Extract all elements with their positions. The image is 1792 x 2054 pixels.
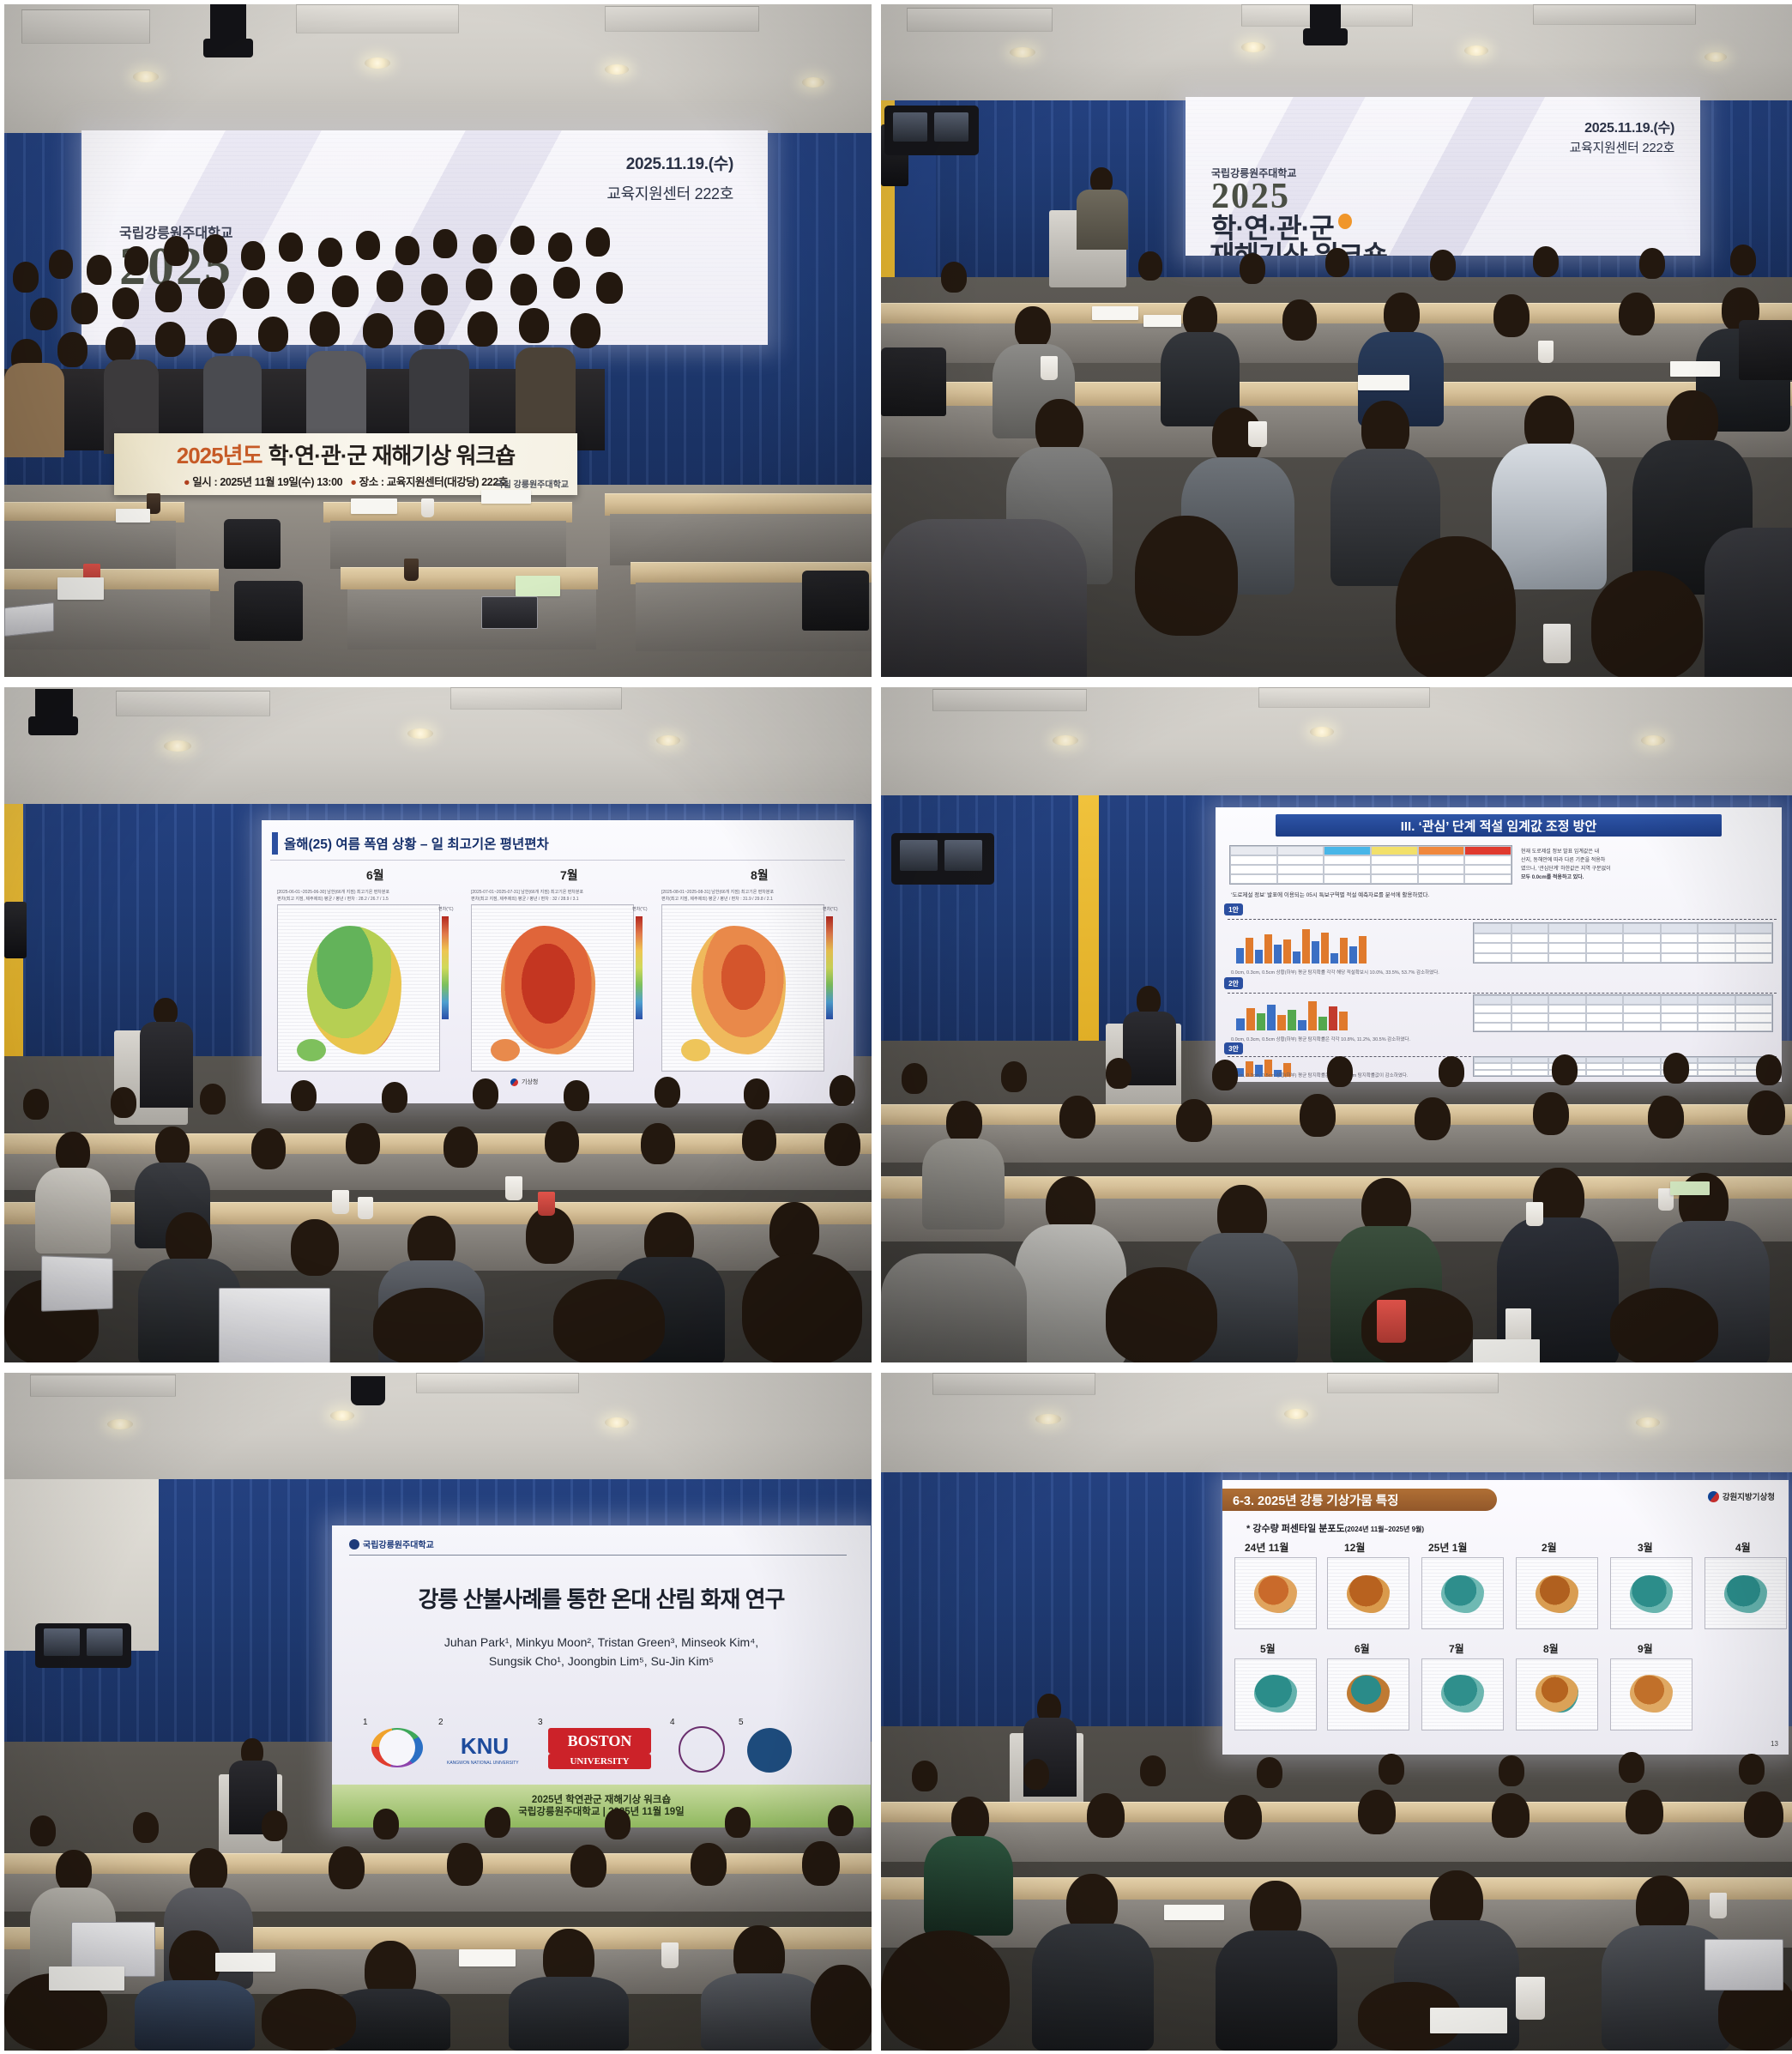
affiliation-number: 3	[538, 1718, 543, 1727]
affiliation-logo-nifos	[747, 1728, 792, 1773]
slide-room: 교육지원센터 222호	[606, 182, 733, 204]
camera-icon	[351, 1376, 385, 1405]
projection-screen: 올해(25) 여름 폭염 상황 – 일 최고기온 평년편차 6월 7월 8월 […	[262, 820, 854, 1103]
affiliation-number: 4	[670, 1718, 675, 1727]
kma-logo-icon: 기상청	[510, 1078, 538, 1086]
drought-map-2502	[1516, 1557, 1598, 1629]
kma-label: 기상청	[522, 1078, 538, 1086]
kma-logo-icon: 강원지방기상청	[1708, 1490, 1775, 1502]
cup-icon	[505, 1176, 522, 1200]
photo-drought[interactable]: 6-3. 2025년 강릉 기상가뭄 특징 강원지방기상청 * 강수량 퍼센타일…	[881, 1373, 1792, 2051]
affiliation-number: 1	[363, 1718, 368, 1727]
photo-wildfire[interactable]: 국립강릉원주대학교 강릉 산불사례를 통한 온대 산림 화재 연구 Juhan …	[4, 1373, 872, 2051]
authors-line-1: Juhan Park¹, Minkyu Moon², Tristan Green…	[332, 1635, 871, 1649]
ceiling-light-icon	[656, 735, 680, 746]
month-label: 9월	[1638, 1641, 1653, 1656]
panel-month-label: 7월	[560, 867, 578, 884]
laptop	[1705, 1939, 1783, 1991]
subnote: 0.0cm, 0.3cm, 0.5cm 상황(하부) 평균 탐지확률 각각 해당…	[1231, 969, 1439, 976]
affiliation-logo-boston-sub: UNIVERSITY	[548, 1754, 651, 1769]
photo-opening-wide[interactable]: 2025.11.19.(수) 교육지원센터 222호 국립강릉원주대학교 202…	[881, 4, 1792, 677]
photo-collage: 2025.11.19.(수) 교육지원센터 222호 국립강릉원주대학교 202…	[0, 0, 1792, 2054]
section-label: 1안	[1224, 903, 1243, 915]
cup-icon	[404, 559, 419, 581]
banner-title-rest: 학·연·관·군 재해기상 워크숍	[268, 443, 516, 468]
ceiling-light-icon	[1053, 735, 1078, 746]
banner-title-year: 2025년도	[177, 443, 262, 468]
affiliation-logo-ncar	[371, 1728, 423, 1767]
photo-group-banner[interactable]: 2025.11.19.(수) 교육지원센터 222호 국립강릉원주대학교 202…	[4, 4, 872, 677]
affiliation-number: 2	[438, 1718, 443, 1727]
panel-caption: 편차(최고 지점, 제주제외) 평균 / 평년 / 편차 : 31.9 / 29…	[661, 896, 773, 902]
drought-map-2506	[1327, 1658, 1409, 1731]
affiliation-subtext: KANGWON NATIONAL UNIVERSITY	[447, 1761, 519, 1766]
slide-institution: 국립강릉원주대학교	[349, 1537, 434, 1550]
ceiling-light-icon	[164, 740, 191, 752]
cup-icon	[358, 1197, 373, 1219]
ceiling-light-icon	[1241, 42, 1265, 52]
drought-map-2503	[1610, 1557, 1692, 1629]
bar-chart-option2	[1236, 996, 1348, 1030]
projection-screen: 6-3. 2025년 강릉 기상가뭄 특징 강원지방기상청 * 강수량 퍼센타일…	[1222, 1480, 1789, 1755]
slide-date: 2025.11.19.(수)	[1584, 116, 1674, 136]
cup-icon	[1248, 421, 1267, 447]
panel-caption: [2025-06-01~2025-06-30] 남한(66개 지점) 최고기온 …	[277, 889, 389, 895]
heatmap-panel-august	[661, 904, 824, 1072]
slide-title: 6-3. 2025년 강릉 기상가뭄 특징	[1222, 1489, 1497, 1511]
cup-icon	[332, 1190, 349, 1214]
photo-snow-threshold[interactable]: III. ‘관심’ 단계 적설 임계값 조정 방안 현재 도로제설 정보 발표 …	[881, 687, 1792, 1362]
panel-caption: 편차(최고 지점, 제주제외) 평균 / 평년 / 편차 : 28.2 / 26…	[277, 896, 389, 902]
cup-icon	[1538, 341, 1554, 363]
cup-icon	[538, 1192, 555, 1216]
cup-icon	[1543, 624, 1571, 663]
institution-label: 국립강릉원주대학교	[363, 1537, 434, 1550]
ceiling-light-icon	[1705, 52, 1727, 62]
ceiling-light-icon	[1310, 727, 1334, 737]
event-banner: 2025년도 학·연·관·군 재해기상 워크숍 ● 일시 : 2025년 11월…	[114, 433, 577, 495]
cup-icon	[1710, 1893, 1727, 1918]
cup-icon	[1526, 1202, 1543, 1226]
banner-logo-text: 국립 강릉원주대학교	[495, 477, 569, 490]
note-bottom: ‘도로제설 정보’ 발표에 이용되는 05시 특보구역별 적설 예측자료를 분석…	[1231, 890, 1429, 898]
authors-line-2: Sungsik Cho¹, Joongbin Lim⁵, Su-Jin Kim⁵	[332, 1654, 871, 1668]
banner-date-label: 일시 :	[192, 476, 217, 488]
banner-place-value: 교육지원센터(대강당) 222호	[387, 476, 508, 488]
panel-month-label: 8월	[751, 867, 769, 884]
month-label: 7월	[1449, 1641, 1464, 1656]
month-label: 4월	[1735, 1540, 1751, 1555]
slide-room: 교육지원센터 222호	[1570, 138, 1675, 156]
page-number: 13	[1771, 1740, 1778, 1748]
panel-caption: 편차(최고 지점, 제주제외) 평균 / 평년 / 편차 : 32 / 28.9…	[471, 896, 579, 902]
banner-date-value: 2025년 11월 19일(수) 13:00	[220, 476, 342, 488]
month-label: 2월	[1542, 1540, 1557, 1555]
drought-map-2507	[1421, 1658, 1504, 1731]
banner-title: 2025년도 학·연·관·군 재해기상 워크숍	[114, 438, 577, 470]
heatmap-panel-june	[277, 904, 440, 1072]
month-label: 6월	[1355, 1641, 1370, 1656]
note-line: 였으나, ‘관심단계’ 하한값은 지역 구분없이	[1521, 864, 1611, 872]
month-label: 5월	[1260, 1641, 1276, 1656]
photo-heatwave[interactable]: 올해(25) 여름 폭염 상황 – 일 최고기온 평년편차 6월 7월 8월 […	[4, 687, 872, 1362]
slide-title-line2: 재해기상 워크숍	[1210, 234, 1387, 256]
month-label: 8월	[1543, 1641, 1559, 1656]
ceiling-light-icon	[107, 1419, 133, 1429]
subnote: 0.0cm, 0.3cm, 0.5cm 상황(하부) 평균 탐지확률은 각각 1…	[1231, 1072, 1408, 1078]
affiliation-number: 5	[739, 1718, 744, 1727]
projection-screen: 2025.11.19.(수) 교육지원센터 222호 국립강릉원주대학교 202…	[1186, 97, 1700, 256]
subtitle-main: * 강수량 퍼센타일 분포도	[1246, 1524, 1345, 1534]
subtitle-paren: (2024년 11월~2025년 9월)	[1345, 1525, 1424, 1533]
panel-month-label: 6월	[366, 867, 384, 884]
projection-screen: 국립강릉원주대학교 강릉 산불사례를 통한 온대 산림 화재 연구 Juhan …	[332, 1525, 871, 1827]
camera-icon	[203, 39, 253, 57]
section-label: 3안	[1224, 1042, 1243, 1054]
legend-title: 편차(℃)	[632, 906, 648, 912]
drought-map-2509	[1610, 1658, 1692, 1731]
laptop	[219, 1288, 330, 1362]
ceiling-light-icon	[1636, 1417, 1660, 1428]
affiliation-logo-knu: KNU	[447, 1731, 522, 1761]
month-label: 3월	[1638, 1540, 1653, 1555]
slide-title: 올해(25) 여름 폭염 상황 – 일 최고기온 평년편차	[284, 834, 549, 853]
cup-icon	[1516, 1977, 1545, 2020]
affiliation-logo-gwnu	[679, 1726, 725, 1773]
ceiling-light-icon	[407, 728, 433, 739]
affiliation-logo-boston: BOSTON	[548, 1728, 651, 1754]
drought-map-2412	[1327, 1557, 1409, 1629]
slide-title: 강릉 산불사례를 통한 온대 산림 화재 연구	[332, 1582, 871, 1614]
ceiling-light-icon	[605, 1417, 629, 1428]
ceiling-light-icon	[1641, 735, 1665, 746]
cup-icon	[421, 498, 434, 517]
section-label: 2안	[1224, 977, 1243, 989]
panel-caption: [2025-08-01~2025-08-31] 남한(66개 지점) 최고기온 …	[661, 889, 774, 895]
drought-map-2505	[1234, 1658, 1317, 1731]
ceiling-light-icon	[133, 71, 159, 82]
legend-title: 편차(℃)	[438, 906, 454, 912]
camera-icon	[1303, 28, 1348, 45]
legend-title: 편차(℃)	[823, 906, 838, 912]
ceiling-light-icon	[802, 77, 824, 88]
drought-map-2501	[1421, 1557, 1504, 1629]
drought-map-2508	[1516, 1658, 1598, 1731]
slide-date: 2025.11.19.(수)	[626, 151, 733, 174]
ceiling-light-icon	[365, 57, 390, 69]
agency-label: 강원지방기상청	[1723, 1490, 1775, 1502]
cup-icon	[1041, 356, 1058, 380]
speaker-icon	[4, 902, 27, 958]
footer-line-1: 2025년 학연관군 재해기상 워크숍	[332, 1794, 871, 1806]
threshold-table	[1229, 845, 1512, 885]
panel-caption: [2025-07-01~2025-07-31] 남한(66개 지점) 최고기온 …	[471, 889, 583, 895]
cup-icon	[661, 1942, 679, 1968]
slide-footer: 2025년 학연관군 재해기상 워크숍 국립강릉원주대학교 | 2025년 11…	[332, 1785, 871, 1827]
projection-screen: III. ‘관심’ 단계 적설 임계값 조정 방안 현재 도로제설 정보 발표 …	[1216, 807, 1782, 1082]
ceiling-light-icon	[1010, 47, 1035, 57]
ceiling-light-icon	[1284, 1409, 1308, 1419]
ceiling-light-icon	[1035, 1414, 1061, 1424]
ceiling-light-icon	[1464, 45, 1488, 56]
month-label: 25년 1월	[1428, 1540, 1467, 1555]
ceiling-light-icon	[330, 1411, 354, 1421]
note-line: 현재 도로제설 정보 발표 임계값은 내	[1521, 847, 1599, 855]
drought-map-2504	[1705, 1557, 1787, 1629]
note-line: 산지, 동해안에 따라 다른 기준을 적용하	[1521, 855, 1605, 863]
footer-line-2: 국립강릉원주대학교 | 2025년 11월 19일	[332, 1806, 871, 1818]
slide-title: III. ‘관심’ 단계 적설 임계값 조정 방안	[1276, 814, 1722, 837]
subnote: 0.0cm, 0.3cm, 0.5cm 상황(하부) 평균 탐지확률은 각각 1…	[1231, 1036, 1410, 1042]
month-label: 12월	[1344, 1540, 1365, 1555]
ceiling-light-icon	[605, 64, 629, 75]
month-label: 24년 11월	[1245, 1540, 1288, 1555]
cup-icon	[1377, 1300, 1406, 1343]
note-line: 모두 0.0cm를 적용하고 있다.	[1521, 873, 1584, 880]
laptop	[41, 1255, 113, 1311]
drought-map-2411	[1234, 1557, 1317, 1629]
banner-place-label: 장소 :	[359, 476, 384, 488]
bar-chart-option1	[1236, 924, 1367, 964]
camera-icon	[28, 716, 78, 735]
heatmap-panel-july	[471, 904, 634, 1072]
